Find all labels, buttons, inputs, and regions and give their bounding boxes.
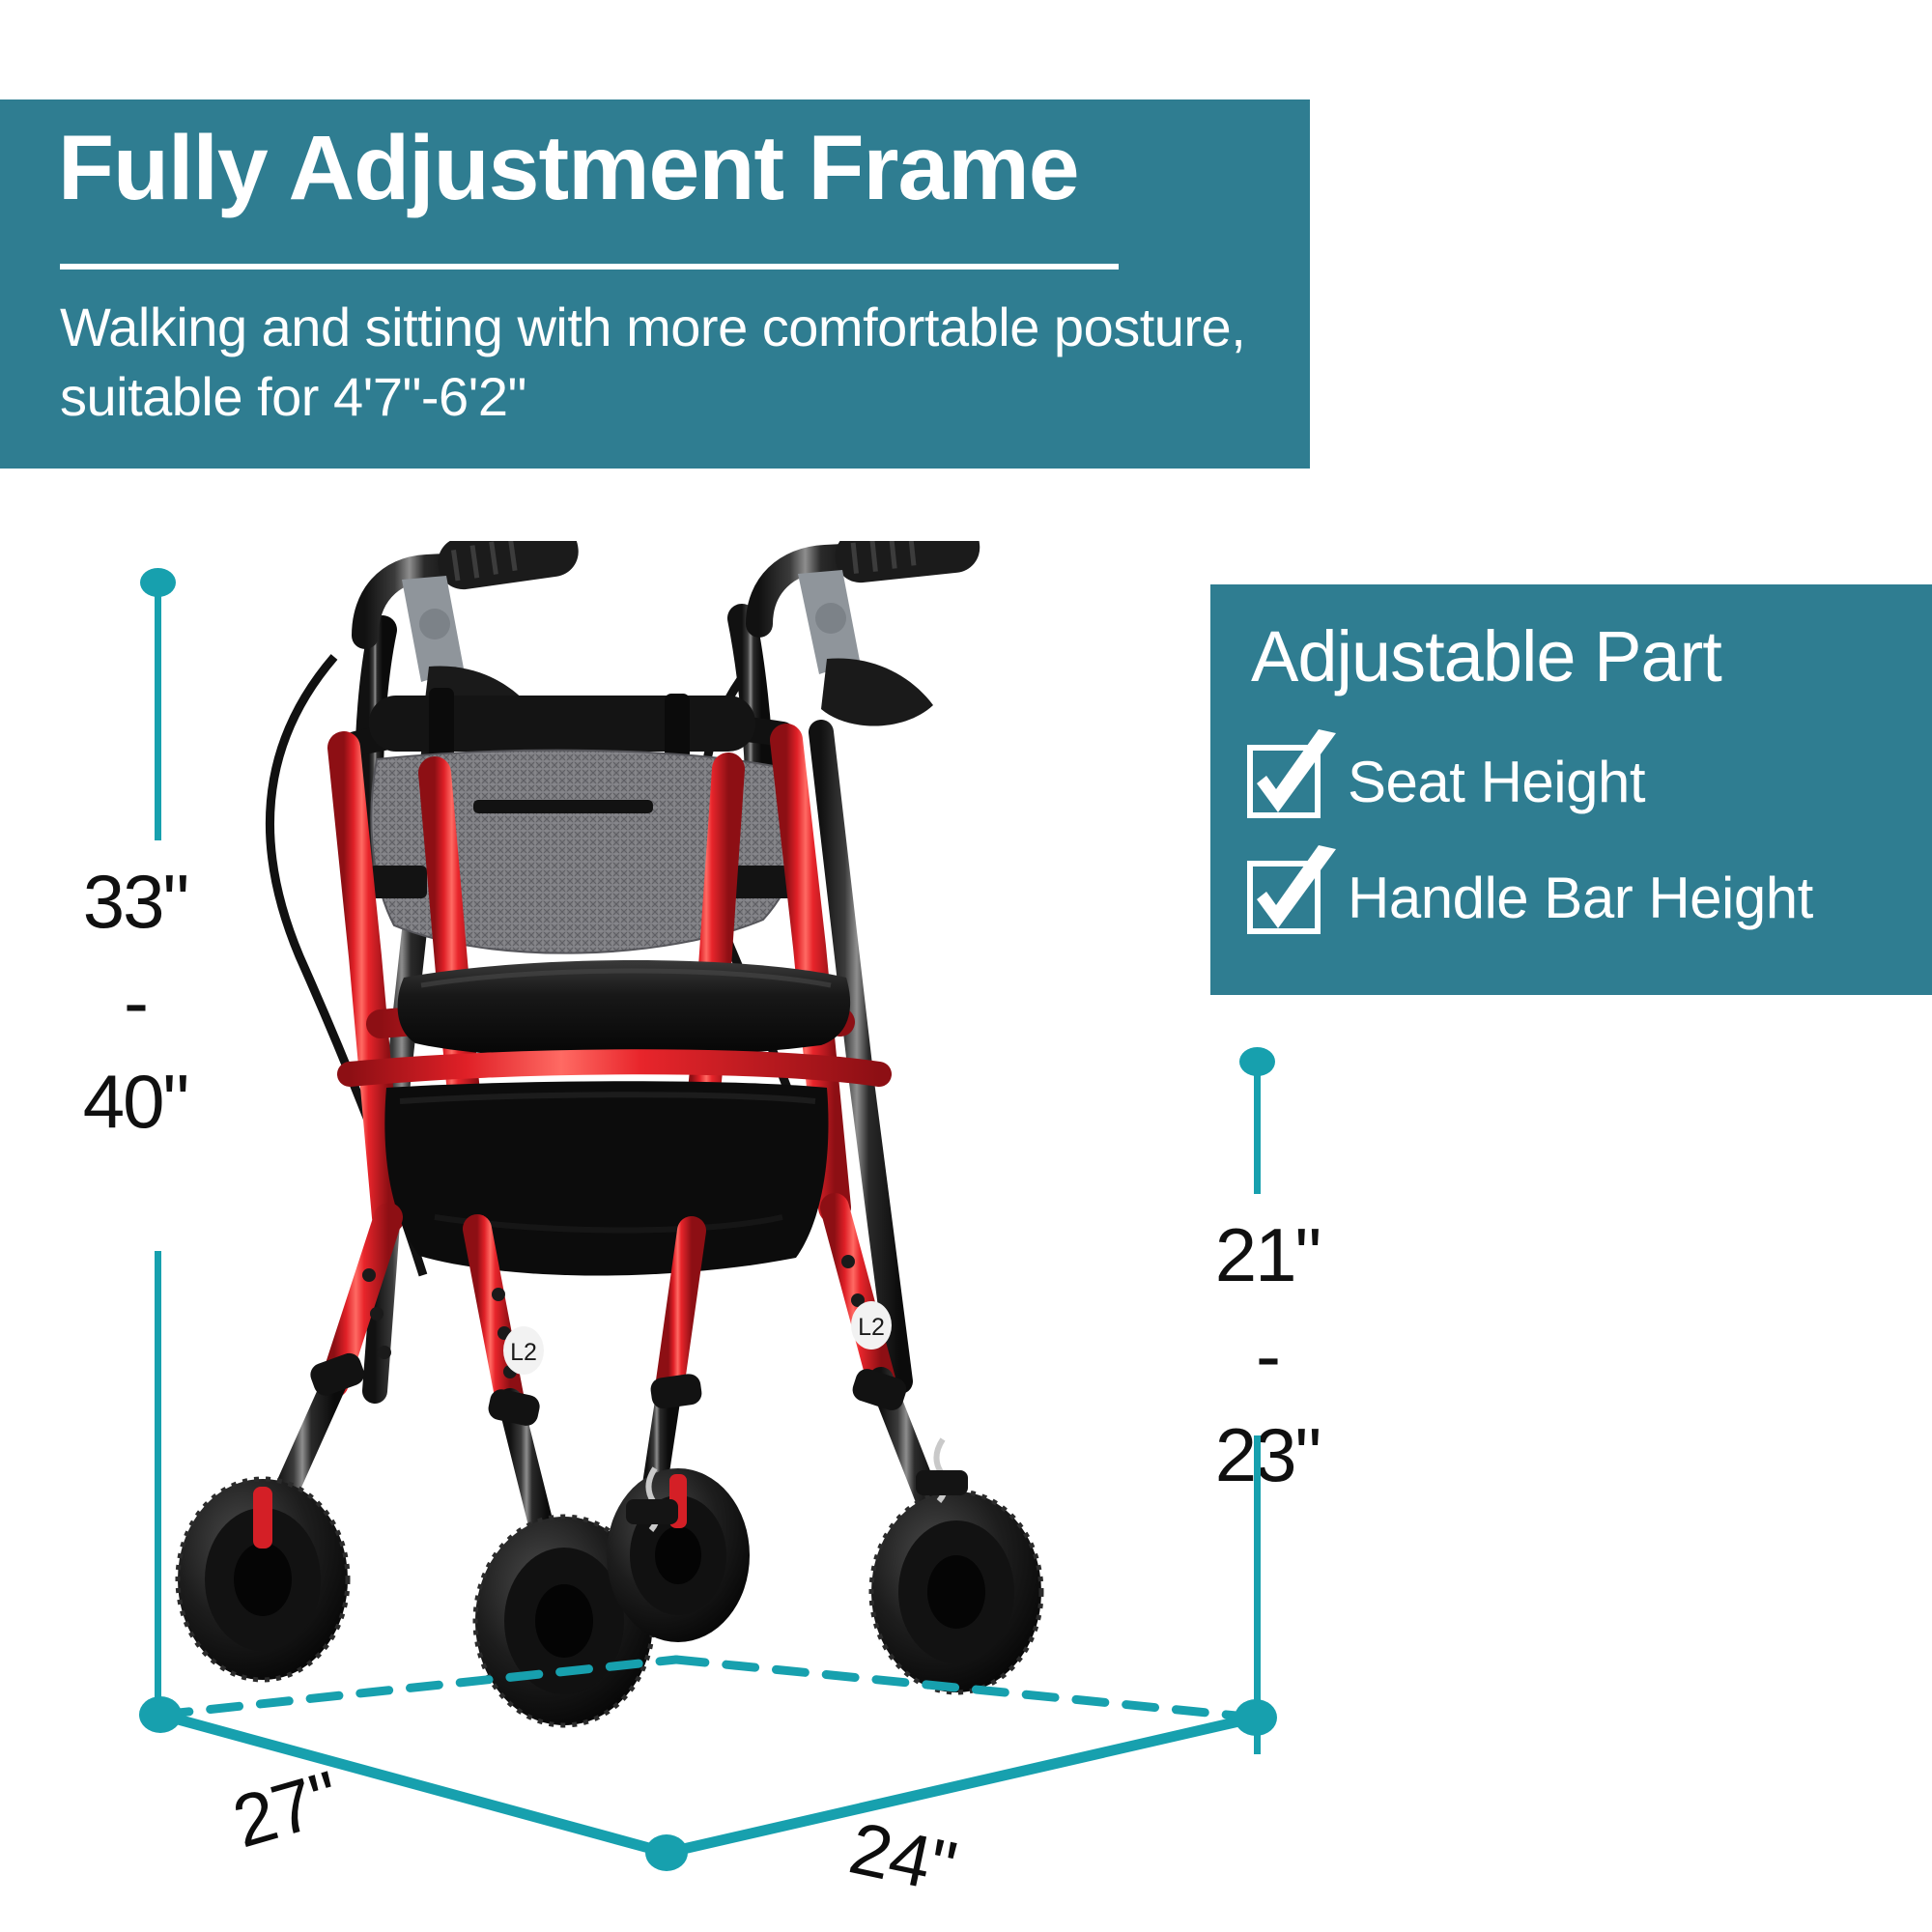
dimension-depth-label: 27" <box>224 1755 348 1865</box>
dimension-seat-height: 21" - 23" <box>1140 1043 1459 1777</box>
svg-text:L2: L2 <box>510 1339 537 1366</box>
header-divider <box>60 264 1119 270</box>
dimension-line-lower <box>155 1251 161 1724</box>
header-banner: Fully Adjustment Frame Walking and sitti… <box>0 99 1310 469</box>
dimension-line-upper <box>1254 1068 1261 1194</box>
dimension-width-label: 24" <box>842 1806 962 1911</box>
dimension-handle-height: 33" - 40" <box>0 541 406 1758</box>
adjustable-part-title: Adjustable Part <box>1251 615 1721 697</box>
header-subtitle: Walking and sitting with more comfortabl… <box>60 293 1248 431</box>
dimension-value-min: 33" <box>53 852 217 952</box>
dimension-vertex-front-icon <box>645 1834 688 1871</box>
adjustable-item-seat-height: Seat Height <box>1247 745 1645 818</box>
dimension-separator: - <box>1171 1306 1364 1406</box>
adjustable-item-handle-bar-height: Handle Bar Height <box>1247 861 1813 934</box>
dimension-seat-height-label: 21" - 23" <box>1171 1206 1364 1506</box>
adjustable-item-label: Handle Bar Height <box>1348 865 1813 931</box>
adjustable-part-panel: Adjustable Part Seat Height Handle Bar H… <box>1210 584 1932 995</box>
dimension-value-min: 21" <box>1171 1206 1364 1306</box>
dimension-line-lower <box>1254 1435 1261 1754</box>
checkbox-checked-icon <box>1247 861 1321 934</box>
dimension-handle-height-label: 33" - 40" <box>53 852 217 1152</box>
dimension-line-upper <box>155 591 161 840</box>
adjustable-item-label: Seat Height <box>1348 749 1645 815</box>
checkbox-checked-icon <box>1247 745 1321 818</box>
page-title: Fully Adjustment Frame <box>58 121 1079 217</box>
dimension-value-max: 40" <box>53 1052 217 1152</box>
dimension-value-max: 23" <box>1171 1406 1364 1506</box>
dimension-separator: - <box>53 952 217 1053</box>
svg-text:L2: L2 <box>858 1314 885 1341</box>
